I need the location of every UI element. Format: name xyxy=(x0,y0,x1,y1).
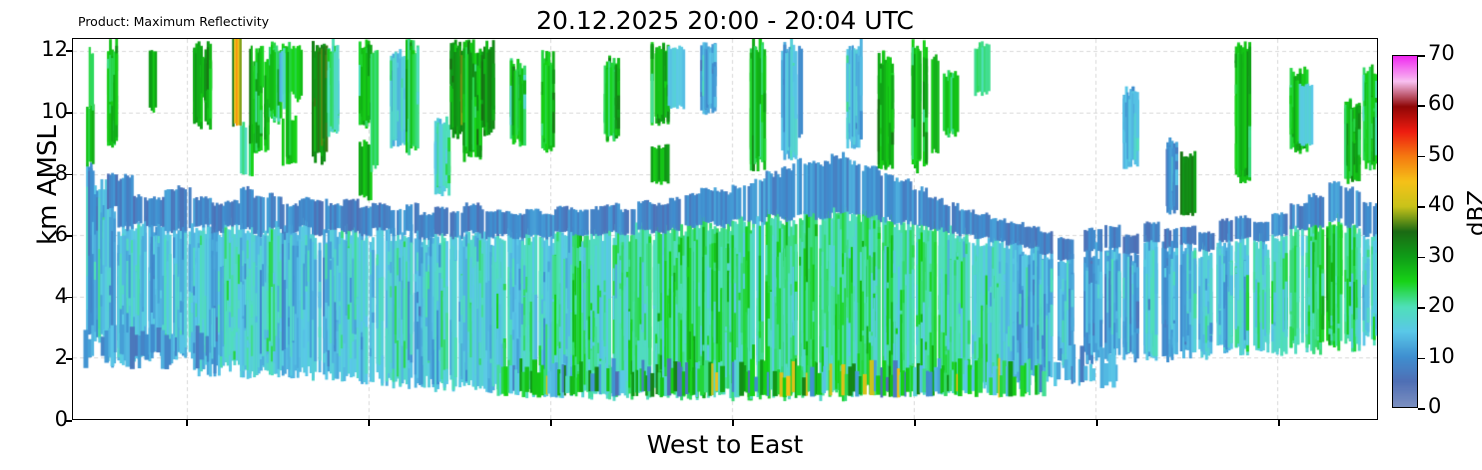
y-tick-label: 6 xyxy=(28,224,68,245)
colorbar-tick-mark xyxy=(1418,307,1425,309)
colorbar-tick-label: 70 xyxy=(1428,43,1455,64)
product-annotation: Product: Maximum Reflectivity xyxy=(78,14,269,29)
x-tick-mark xyxy=(914,420,916,426)
colorbar-tick-label: 50 xyxy=(1428,144,1455,165)
colorbar-tick-label: 20 xyxy=(1428,295,1455,316)
y-tick-mark xyxy=(66,174,72,176)
colorbar-tick-label: 60 xyxy=(1428,93,1455,114)
colorbar-tick-label: 0 xyxy=(1428,396,1441,417)
y-tick-mark xyxy=(66,235,72,237)
y-tick-mark xyxy=(66,112,72,114)
x-tick-mark xyxy=(368,420,370,426)
y-tick-label: 12 xyxy=(28,39,68,60)
x-tick-mark xyxy=(186,420,188,426)
x-tick-mark xyxy=(550,420,552,426)
y-tick-label: 8 xyxy=(28,163,68,184)
y-tick-label: 2 xyxy=(28,347,68,368)
colorbar xyxy=(1392,55,1418,408)
colorbar-tick-mark xyxy=(1418,156,1425,158)
y-tick-mark xyxy=(66,297,72,299)
y-tick-label: 4 xyxy=(28,286,68,307)
radar-cross-section-figure: 20.12.2025 20:00 - 20:04 UTC Product: Ma… xyxy=(0,0,1482,470)
y-tick-label: 10 xyxy=(28,101,68,122)
x-tick-mark xyxy=(732,420,734,426)
colorbar-tick-mark xyxy=(1418,206,1425,208)
reflectivity-heatmap-canvas xyxy=(73,39,1377,419)
plot-area xyxy=(72,38,1378,420)
colorbar-tick-label: 30 xyxy=(1428,245,1455,266)
y-tick-mark xyxy=(66,420,72,422)
colorbar-tick-mark xyxy=(1418,105,1425,107)
colorbar-tick-mark xyxy=(1418,55,1425,57)
colorbar-tick-mark xyxy=(1418,408,1425,410)
y-tick-label: 0 xyxy=(28,409,68,430)
y-tick-mark xyxy=(66,358,72,360)
colorbar-label: dBZ xyxy=(1464,153,1482,273)
y-tick-mark xyxy=(66,50,72,52)
x-tick-mark xyxy=(1278,420,1280,426)
colorbar-tick-label: 10 xyxy=(1428,346,1455,367)
colorbar-tick-mark xyxy=(1418,358,1425,360)
colorbar-tick-mark xyxy=(1418,257,1425,259)
colorbar-canvas xyxy=(1393,56,1417,407)
colorbar-tick-label: 40 xyxy=(1428,194,1455,215)
x-axis-label: West to East xyxy=(72,430,1378,459)
x-tick-mark xyxy=(1096,420,1098,426)
